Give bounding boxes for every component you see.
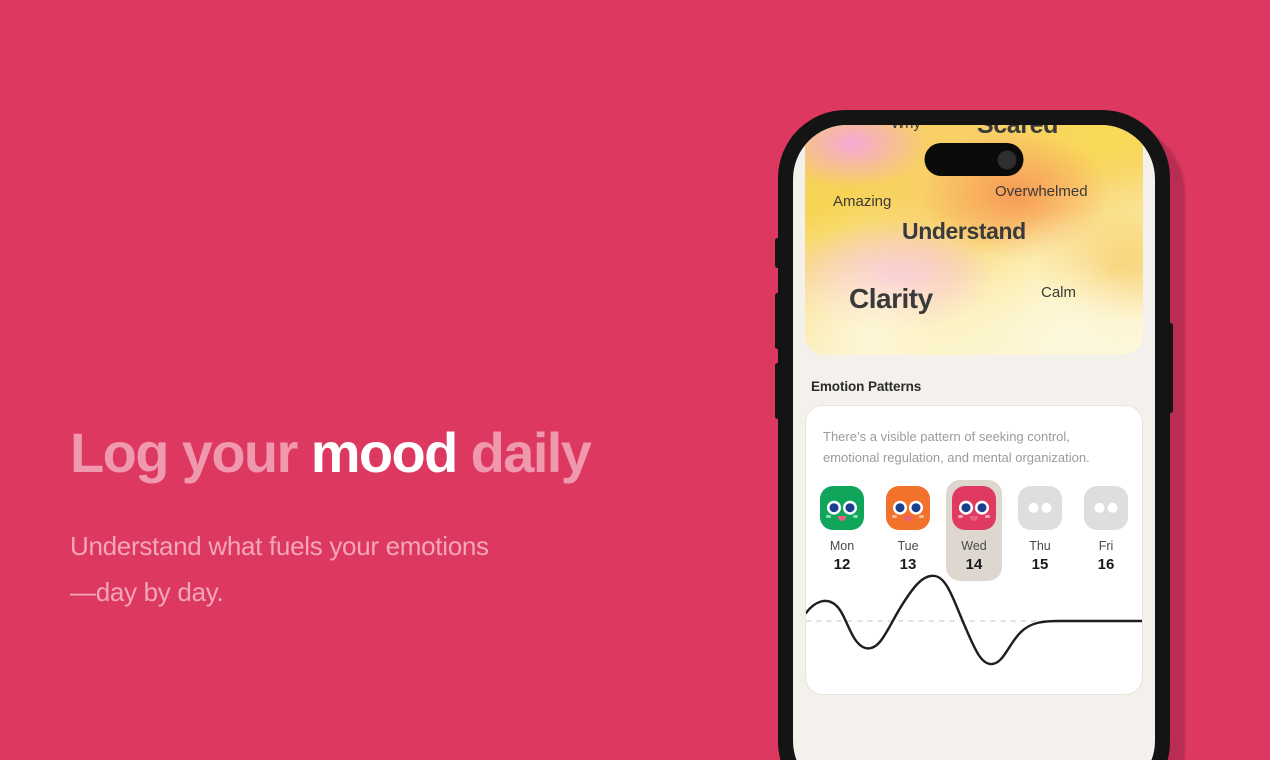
mouth-icon [970,516,978,521]
eyes-icon [1095,503,1118,513]
mood-face-icon-wed [952,486,996,530]
marketing-subcopy: Understand what fuels your emotions —day… [70,523,690,615]
emotion-patterns-card: There’s a visible pattern of seeking con… [805,405,1143,695]
pattern-insight-line-2: emotional regulation, and mental organiz… [823,450,1090,465]
mood-word-calm[interactable]: Calm [1041,284,1076,301]
mute-switch-button[interactable] [775,238,780,268]
headline-emphasis: mood [311,421,457,484]
blush-left-icon [958,515,963,518]
volume-up-button[interactable] [775,293,780,349]
mood-word-amazing[interactable]: Amazing [833,193,891,210]
headline-part-2: daily [457,421,591,484]
mood-face-icon-thu [1018,486,1062,530]
mood-wave-svg [806,566,1143,676]
dynamic-island [925,143,1024,176]
mood-face-icon-mon [820,486,864,530]
headline-part-1: Log your [70,421,311,484]
pattern-insight-line-1: There’s a visible pattern of seeking con… [823,429,1070,444]
power-button[interactable] [1168,323,1173,413]
day-name-fri: Fri [1078,539,1134,553]
page-title: Log your mood daily [70,424,690,483]
blush-right-icon [919,515,924,518]
chart-line [806,576,1143,664]
phone-screen: Why Scared Amazing Overwhelmed Understan… [793,125,1155,760]
mood-face-icon-tue [886,486,930,530]
mood-face-icon-fri [1084,486,1128,530]
mood-wave-chart [806,566,1143,676]
blush-right-icon [985,515,990,518]
phone-mockup: Why Scared Amazing Overwhelmed Understan… [778,110,1170,760]
eyes-icon [827,501,857,515]
front-camera-icon [998,150,1017,169]
blush-left-icon [826,515,831,518]
eyes-icon [1029,503,1052,513]
blush-right-icon [853,515,858,518]
day-name-thu: Thu [1012,539,1068,553]
mood-word-why[interactable]: Why [891,125,921,132]
mouth-icon [904,516,912,521]
marketing-copy: Log your mood daily Understand what fuel… [70,424,690,615]
mood-word-clarity[interactable]: Clarity [849,283,933,315]
volume-down-button[interactable] [775,363,780,419]
day-name-wed: Wed [946,539,1002,553]
blush-left-icon [892,515,897,518]
day-name-mon: Mon [814,539,870,553]
mood-word-understand[interactable]: Understand [902,218,1026,245]
day-name-tue: Tue [880,539,936,553]
pattern-insight-text: There’s a visible pattern of seeking con… [823,426,1125,468]
mouth-icon [838,516,846,521]
emotion-patterns-title: Emotion Patterns [811,379,1155,394]
mood-word-scared[interactable]: Scared [977,125,1058,140]
mood-word-overwhelmed[interactable]: Overwhelmed [995,183,1088,200]
subcopy-line-1: Understand what fuels your emotions [70,523,690,569]
eyes-icon [959,501,989,515]
subcopy-line-2: —day by day. [70,569,690,615]
eyes-icon [893,501,923,515]
